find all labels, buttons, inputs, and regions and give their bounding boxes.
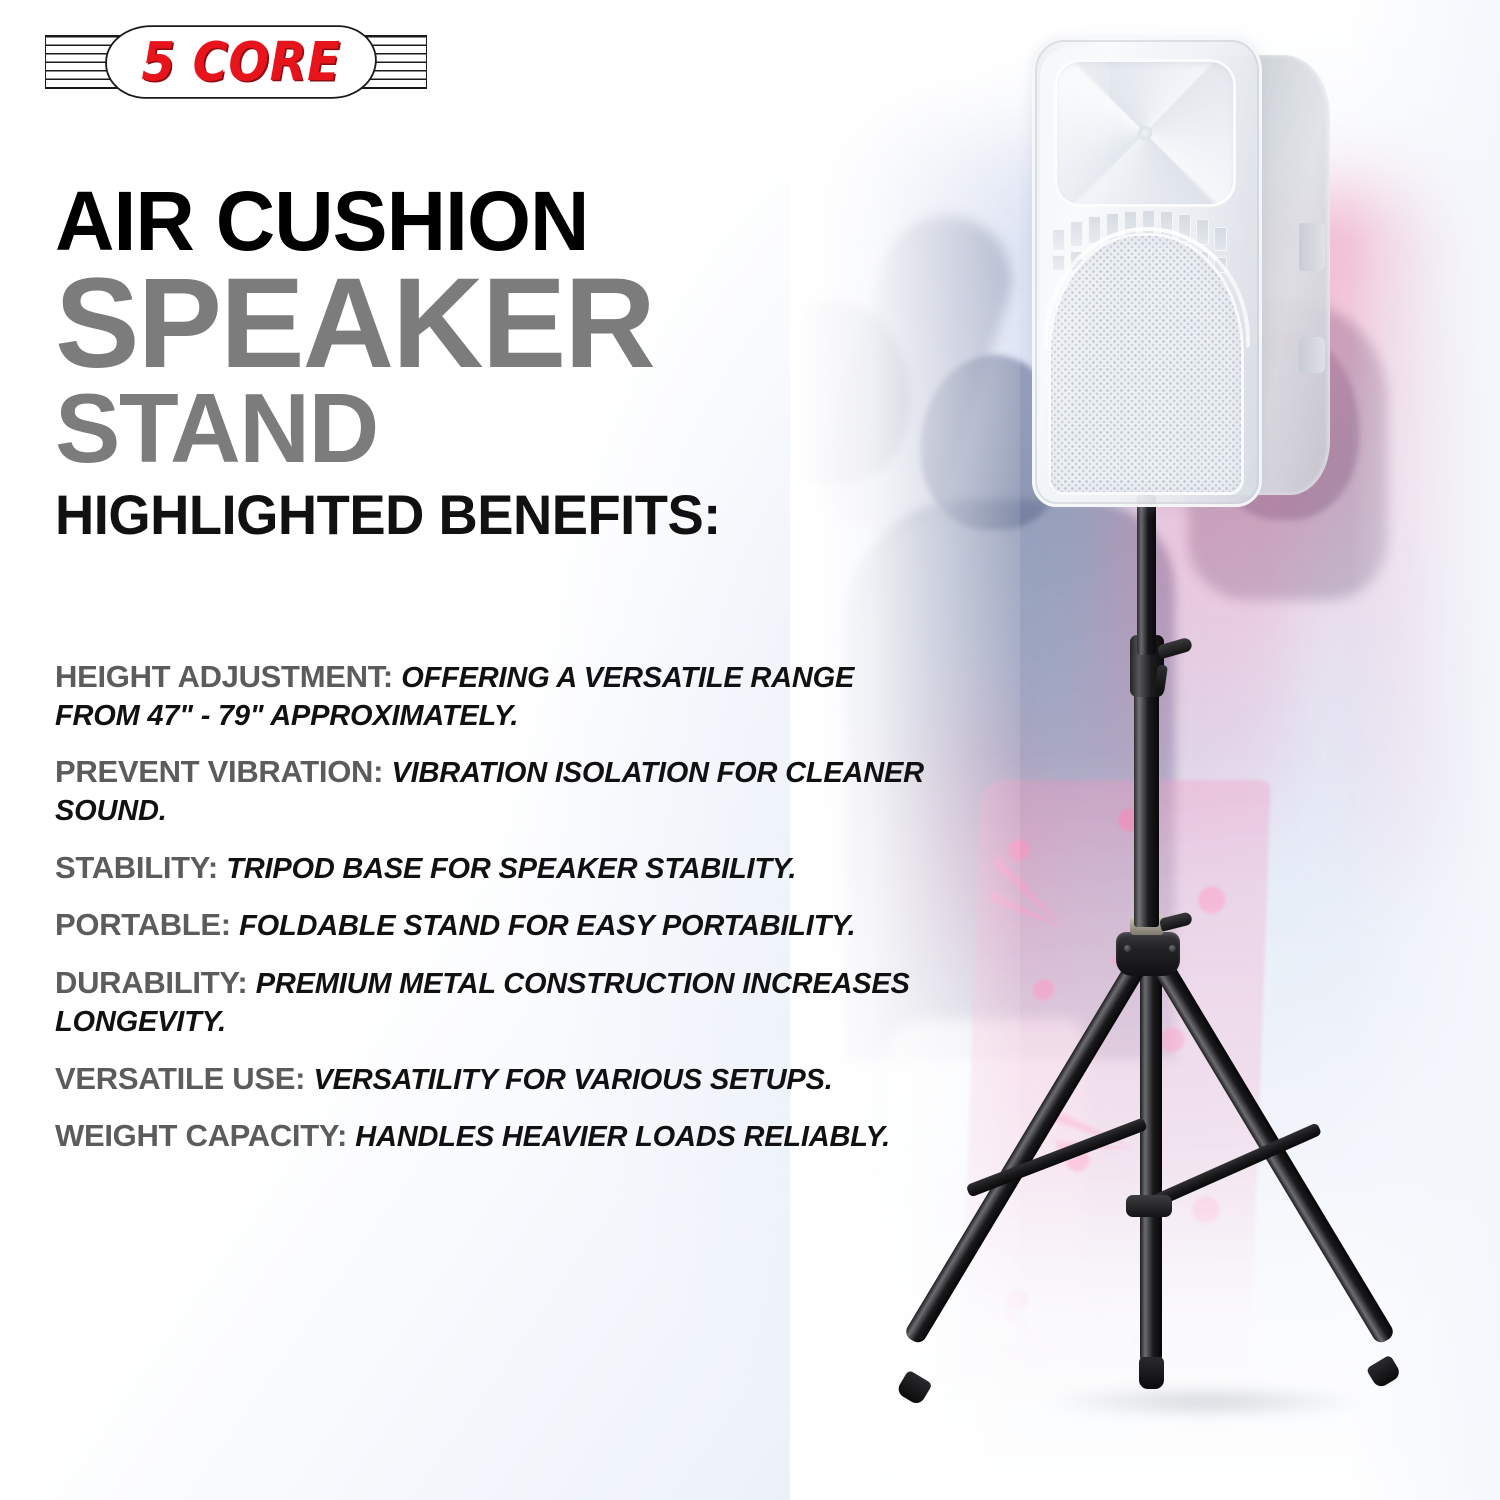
headline-line-3: STAND: [55, 383, 915, 473]
tripod-leg-left: [903, 958, 1148, 1346]
headline-line-2: SPEAKER: [55, 266, 906, 381]
tripod-brace-left: [966, 1117, 1148, 1197]
benefit-item: PREVENT VIBRATION: VIBRATION ISOLATION F…: [55, 752, 925, 830]
stand-shadow: [1040, 1385, 1370, 1419]
hub-bolt: [1124, 945, 1131, 952]
benefit-description: FOLDABLE STAND FOR EASY PORTABILITY.: [239, 910, 855, 942]
tripod-foot-left: [895, 1370, 932, 1407]
tripod-brace-hub: [1126, 1195, 1172, 1217]
benefit-label: PREVENT VIBRATION:: [55, 754, 391, 789]
headline-line-1: AIR CUSHION: [55, 182, 898, 260]
horn-center-point: [1138, 126, 1152, 140]
benefit-item: VERSATILE USE: VERSATILITY FOR VARIOUS S…: [55, 1059, 925, 1100]
benefit-label: VERSATILE USE:: [55, 1061, 313, 1096]
pole-lower-section: [1134, 691, 1159, 927]
benefit-item: PORTABLE: FOLDABLE STAND FOR EASY PORTAB…: [55, 905, 925, 946]
benefit-item: HEIGHT ADJUSTMENT: OFFERING A VERSATILE …: [55, 657, 925, 735]
five-core-logo: 5 CORE: [45, 27, 427, 97]
tripod-hub: [1116, 932, 1180, 976]
benefits-section-title: HIGHLIGHTED BENEFITS:: [55, 487, 889, 543]
lower-clamp-knob[interactable]: [1159, 911, 1193, 931]
pa-speaker: [1008, 25, 1330, 515]
benefit-item: WEIGHT CAPACITY: HANDLES HEAVIER LOADS R…: [55, 1116, 925, 1157]
speaker-handle: [1299, 223, 1325, 271]
benefit-description: VERSATILITY FOR VARIOUS SETUPS.: [313, 1064, 832, 1096]
logo-text: 5 CORE: [107, 23, 375, 101]
speaker-cabinet: [1032, 37, 1262, 507]
benefits-list: HEIGHT ADJUSTMENT: OFFERING A VERSATILE …: [55, 657, 925, 1157]
pole-upper-section: [1137, 495, 1156, 655]
benefit-description: HANDLES HEAVIER LOADS RELIABLY.: [355, 1121, 890, 1153]
benefit-label: STABILITY:: [55, 850, 226, 885]
benefit-description: TRIPOD BASE FOR SPEAKER STABILITY.: [226, 853, 796, 885]
tripod-foot-rear: [1139, 1357, 1164, 1389]
speaker-gloss-highlight: [1040, 47, 1110, 487]
hub-bolt: [1169, 945, 1176, 952]
infographic-poster: 5 CORE AIR CUSHION SPEAKER STAND HIGHLIG…: [0, 0, 1500, 1500]
benefit-label: DURABILITY:: [55, 965, 256, 1000]
background-right-fade: [1350, 0, 1500, 1500]
tripod-leg-rear: [1140, 965, 1162, 1365]
benefit-item: STABILITY: TRIPOD BASE FOR SPEAKER STABI…: [55, 848, 925, 889]
benefit-label: HEIGHT ADJUSTMENT:: [55, 659, 401, 694]
page-title: AIR CUSHION SPEAKER STAND HIGHLIGHTED BE…: [55, 182, 915, 543]
benefit-label: PORTABLE:: [55, 907, 239, 942]
benefit-item: DURABILITY: PREMIUM METAL CONSTRUCTION I…: [55, 963, 925, 1041]
speaker-handle: [1299, 337, 1325, 373]
benefit-label: WEIGHT CAPACITY:: [55, 1118, 355, 1153]
